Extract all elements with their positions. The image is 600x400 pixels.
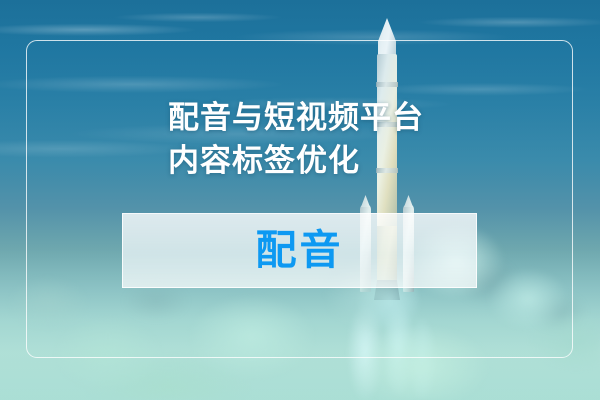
cta-button[interactable]: 配音	[122, 213, 477, 288]
page-title: 配音与短视频平台 内容标签优化	[168, 96, 424, 182]
page-title-line-1: 配音与短视频平台	[168, 96, 424, 139]
poster-stage: 配音与短视频平台 内容标签优化 配音	[0, 0, 600, 400]
cta-button-label: 配音	[256, 230, 344, 271]
rocket-nose-cone	[378, 18, 396, 58]
rocket-band	[376, 82, 398, 87]
page-title-line-2: 内容标签优化	[168, 139, 424, 182]
